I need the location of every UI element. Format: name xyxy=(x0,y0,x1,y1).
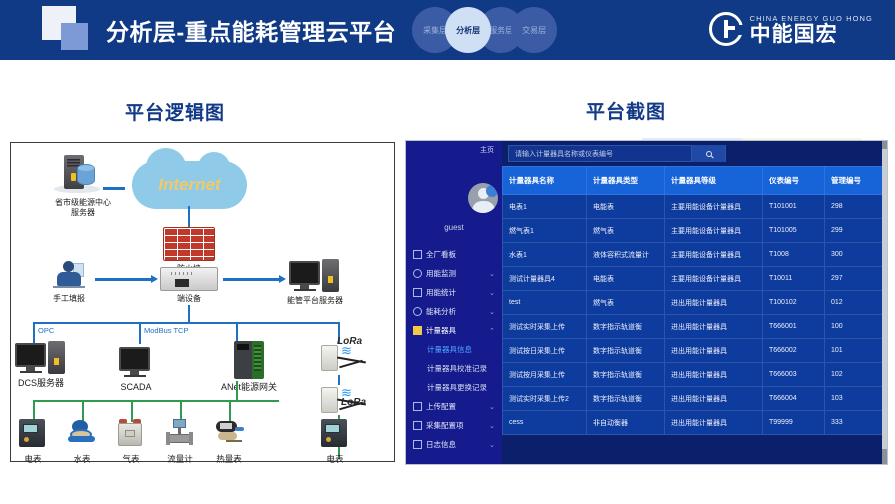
sidebar-item-label: 用能统计 xyxy=(426,287,456,298)
table-cell: T666003 xyxy=(763,363,825,387)
layer-label: 服务层 xyxy=(489,25,513,36)
log-icon xyxy=(413,440,422,449)
sidebar-item-label: 上传配置 xyxy=(426,401,456,412)
table-cell: 燃气表1 xyxy=(503,219,587,243)
bus-drop-scada xyxy=(139,322,141,344)
sidebar-subitem-device-info[interactable]: 计量器具信息 xyxy=(406,340,502,359)
node-edge-device: 端设备 xyxy=(160,267,218,304)
bus-label-opc: OPC xyxy=(38,326,54,335)
table-cell: 燃气表 xyxy=(587,219,665,243)
sidebar-item-statistics[interactable]: 用能统计 ⌄ xyxy=(406,283,502,302)
table-cell: test xyxy=(503,291,587,315)
chevron-down-icon[interactable]: ⌄ xyxy=(489,441,495,449)
node-anet-gateway: ANet能源网关 xyxy=(221,341,277,393)
node-label: 能管平台服务器 xyxy=(287,296,343,306)
water-meter-icon xyxy=(68,419,96,449)
stats-icon xyxy=(413,288,422,297)
col-header-manage-no[interactable]: 管理编号 xyxy=(825,167,889,195)
col-header-meter-no[interactable]: 仪表编号 xyxy=(763,167,825,195)
table-row[interactable]: cess非自动衡器进出用能计量器具T99999333 xyxy=(503,411,889,435)
meter-icon xyxy=(413,326,422,335)
table-row[interactable]: 测试实时采集上传2数字指示轨道衡进出用能计量器具T666004103 xyxy=(503,387,889,411)
sidebar-item-log-info[interactable]: 日志信息 ⌄ xyxy=(406,435,502,454)
sidebar-item-collect-config[interactable]: 采集配置项 ⌄ xyxy=(406,416,502,435)
bus-label-modbus: ModBus TCP xyxy=(144,326,188,335)
table-row[interactable]: 测试实时采集上传数字指示轨道衡进出用能计量器具T666001100 xyxy=(503,315,889,339)
sidebar-subitem-label: 计量器具更换记录 xyxy=(427,382,487,393)
wifi-icon: ≋ xyxy=(341,387,355,399)
table-cell: T10011 xyxy=(763,267,825,291)
bus-green-horizontal xyxy=(33,400,279,402)
search-placeholder: 请输入计量器具名称或仪表编号 xyxy=(509,149,613,159)
table-cell: 012 xyxy=(825,291,889,315)
node-label: 手工填报 xyxy=(53,294,85,304)
scada-icon xyxy=(119,345,153,379)
electric-meter-icon xyxy=(321,419,349,449)
sidebar-item-dashboard[interactable]: 全厂看板 xyxy=(406,245,502,264)
layer-label: 采集层 xyxy=(423,25,447,36)
electric-meter-icon xyxy=(19,419,47,449)
table-cell: T666004 xyxy=(763,387,825,411)
meter-label: 水表 xyxy=(73,453,90,465)
sidebar-item-monitor[interactable]: 用能监测 ⌄ xyxy=(406,264,502,283)
table-cell: 测试按日采集上传 xyxy=(503,339,587,363)
link-server-internet xyxy=(103,187,125,190)
header-logo-squares xyxy=(42,6,104,54)
arrow-icon xyxy=(151,275,158,283)
col-header-name[interactable]: 计量器具名称 xyxy=(503,167,587,195)
sidebar-item-label: 能耗分析 xyxy=(426,306,456,317)
monitor-icon xyxy=(413,269,422,278)
table-cell: 测试实时采集上传2 xyxy=(503,387,587,411)
flow-meter-icon xyxy=(166,419,194,449)
page-header: 分析层-重点能耗管理云平台 采集层 服务层 交易层 分析层 CHINA ENER… xyxy=(0,0,895,60)
table-cell: 主要用能设备计量器具 xyxy=(665,195,763,219)
sidebar-item-analysis[interactable]: 能耗分析 ⌄ xyxy=(406,302,502,321)
square-blue-icon xyxy=(61,23,88,50)
sidebar-item-label: 计量器具 xyxy=(426,325,456,336)
table-cell: 333 xyxy=(825,411,889,435)
gateway-icon xyxy=(234,341,264,379)
layer-label: 分析层 xyxy=(456,25,480,36)
table-cell: 测试按月采集上传 xyxy=(503,363,587,387)
measuring-device-table: 计量器具名称 计量器具类型 计量器具等级 仪表编号 管理编号 电表1电能表主要用… xyxy=(502,166,888,435)
table-cell: 液体容积式流量计 xyxy=(587,243,665,267)
node-label: DCS服务器 xyxy=(18,378,64,389)
search-bar: 请输入计量器具名称或仪表编号 xyxy=(502,141,887,166)
node-scada: SCADA xyxy=(119,345,153,393)
sidebar-subitem-replacement-records[interactable]: 计量器具更换记录 xyxy=(406,378,502,397)
table-cell: 非自动衡器 xyxy=(587,411,665,435)
table-cell: 数字指示轨道衡 xyxy=(587,387,665,411)
platform-logic-diagram: 省市级能源中心服务器 Internet 防火墙 手工填报 xyxy=(10,142,395,462)
scrollbar-thumb[interactable] xyxy=(882,149,887,449)
slide-page: 分析层-重点能耗管理云平台 采集层 服务层 交易层 分析层 CHINA ENER… xyxy=(0,0,895,504)
link-edge-platform xyxy=(223,278,281,281)
search-button[interactable] xyxy=(691,145,725,162)
link-edge-bus xyxy=(188,305,190,323)
home-link-label: 主页 xyxy=(480,145,494,155)
gas-meter-icon xyxy=(117,419,145,449)
sidebar-item-label: 采集配置项 xyxy=(426,420,464,431)
firewall-icon xyxy=(163,227,215,261)
section-title-platform-screenshot: 平台截图 xyxy=(586,97,666,124)
table-cell: T101005 xyxy=(763,219,825,243)
table-cell: 主要用能设备计量器具 xyxy=(665,219,763,243)
table-cell: 进出用能计量器具 xyxy=(665,411,763,435)
table-cell: 水表1 xyxy=(503,243,587,267)
user-name: guest xyxy=(406,223,502,232)
sidebar-item-label: 全厂看板 xyxy=(426,249,456,260)
page-title: 分析层-重点能耗管理云平台 xyxy=(106,13,396,47)
layer-label: 交易层 xyxy=(522,25,546,36)
table-row[interactable]: test燃气表进出用能计量器具T100102012 xyxy=(503,291,889,315)
heat-meter-icon xyxy=(215,419,243,449)
section-title-logic-diagram: 平台逻辑图 xyxy=(125,98,225,125)
sidebar-subitem-label: 计量器具校准记录 xyxy=(427,363,487,374)
table-cell: 主要用能设备计量器具 xyxy=(665,243,763,267)
table-cell: 102 xyxy=(825,363,889,387)
edge-device-icon xyxy=(160,267,218,291)
meter-label: 气表 xyxy=(122,453,139,465)
analysis-icon xyxy=(413,307,422,316)
table-cell: T100102 xyxy=(763,291,825,315)
meter-node-1: 水表 xyxy=(68,419,96,465)
upload-icon xyxy=(413,402,422,411)
table-row[interactable]: 水表1液体容积式流量计主要用能设备计量器具T1008300 xyxy=(503,243,889,267)
table-cell: 进出用能计量器具 xyxy=(665,363,763,387)
link-manual-edge xyxy=(95,278,153,281)
table-cell: 主要用能设备计量器具 xyxy=(665,267,763,291)
table-row[interactable]: 电表1电能表主要用能设备计量器具T101001298 xyxy=(503,195,889,219)
table-cell: 300 xyxy=(825,243,889,267)
table-cell: 测试实时采集上传 xyxy=(503,315,587,339)
meter-node-3: 流量计 xyxy=(166,419,194,465)
node-label: 省市级能源中心服务器 xyxy=(55,198,111,218)
chevron-up-icon[interactable]: ⌃ xyxy=(489,327,495,335)
table-cell: 101 xyxy=(825,339,889,363)
node-label: SCADA xyxy=(120,382,151,393)
layer-circle-analysis[interactable]: 分析层 xyxy=(445,7,491,53)
home-link[interactable]: 主页 xyxy=(406,141,502,159)
table-cell: 燃气表 xyxy=(587,291,665,315)
collect-icon xyxy=(413,421,422,430)
table-cell: T101001 xyxy=(763,195,825,219)
sidebar-menu: 全厂看板 用能监测 ⌄ 用能统计 ⌄ 能耗分析 ⌄ xyxy=(406,245,502,454)
search-icon xyxy=(706,151,712,157)
node-dcs-server: DCS服务器 xyxy=(15,341,67,389)
search-input[interactable]: 请输入计量器具名称或仪表编号 xyxy=(508,145,726,162)
meter-label: 电表 xyxy=(326,453,343,465)
sidebar-item-label: 日志信息 xyxy=(426,439,456,450)
table-cell: T666002 xyxy=(763,339,825,363)
platform-server-icon xyxy=(289,259,341,293)
table-cell: 进出用能计量器具 xyxy=(665,315,763,339)
meter-label: 流量计 xyxy=(167,453,193,465)
manual-entry-icon xyxy=(56,261,82,291)
table-cell: 进出用能计量器具 xyxy=(665,339,763,363)
app-sidebar: 主页 guest 全厂看板 用能监测 ⌄ 用能统计 ⌄ xyxy=(406,141,502,464)
chevron-down-icon[interactable]: ⌄ xyxy=(489,403,495,411)
node-lora-2: LoRa ≋ xyxy=(321,383,367,417)
table-cell: T666001 xyxy=(763,315,825,339)
database-icon xyxy=(77,164,95,185)
chevron-down-icon[interactable]: ⌄ xyxy=(489,422,495,430)
table-cell: 数字指示轨道衡 xyxy=(587,339,665,363)
sidebar-item-label: 用能监测 xyxy=(426,268,456,279)
node-internet-cloud: Internet xyxy=(132,161,247,209)
table-cell: 数字指示轨道衡 xyxy=(587,315,665,339)
company-logo-cn: 中能国宏 xyxy=(750,24,873,45)
chevron-down-icon[interactable]: ⌄ xyxy=(489,308,495,316)
table-cell: 299 xyxy=(825,219,889,243)
wifi-icon: ≋ xyxy=(341,345,355,357)
dcs-server-icon xyxy=(15,341,67,375)
table-cell: 测试计量器具4 xyxy=(503,267,587,291)
dashboard-icon xyxy=(413,250,422,259)
table-row[interactable]: 测试按月采集上传数字指示轨道衡进出用能计量器具T666003102 xyxy=(503,363,889,387)
table-cell: 数字指示轨道衡 xyxy=(587,363,665,387)
table-cell: 297 xyxy=(825,267,889,291)
meter-node-0: 电表 xyxy=(19,419,47,465)
node-label: ANet能源网关 xyxy=(221,382,277,393)
node-label: 端设备 xyxy=(177,294,201,304)
table-row[interactable]: 燃气表1燃气表主要用能设备计量器具T101005299 xyxy=(503,219,889,243)
app-main-content: 请输入计量器具名称或仪表编号 计量器具名称 计量器具类型 计量器具等级 仪表编号… xyxy=(502,141,887,464)
node-energy-center-server: 省市级能源中心服务器 xyxy=(55,153,111,218)
table-row[interactable]: 测试按日采集上传数字指示轨道衡进出用能计量器具T666002101 xyxy=(503,339,889,363)
arrow-icon xyxy=(279,275,286,283)
sidebar-subitem-label: 计量器具信息 xyxy=(427,344,472,355)
chevron-down-icon[interactable]: ⌄ xyxy=(489,289,495,297)
table-cell: cess xyxy=(503,411,587,435)
layer-circle-trade[interactable]: 交易层 xyxy=(511,7,557,53)
col-header-grade[interactable]: 计量器具等级 xyxy=(665,167,763,195)
platform-screenshot: 主页 guest 全厂看板 用能监测 ⌄ 用能统计 ⌄ xyxy=(405,140,888,465)
sidebar-item-upload-config[interactable]: 上传配置 ⌄ xyxy=(406,397,502,416)
table-cell: 电能表 xyxy=(587,267,665,291)
company-logo-en: CHINA ENERGY GUO HONG xyxy=(750,14,873,23)
table-cell: 进出用能计量器具 xyxy=(665,387,763,411)
table-cell: T1008 xyxy=(763,243,825,267)
table-cell: 电能表 xyxy=(587,195,665,219)
meter-label: 热量表 xyxy=(216,453,242,465)
table-cell: 进出用能计量器具 xyxy=(665,291,763,315)
company-logo-icon xyxy=(709,12,743,46)
vertical-scrollbar[interactable] xyxy=(882,141,887,464)
node-lora-1: LoRa ≋ xyxy=(321,341,367,375)
table-cell: 298 xyxy=(825,195,889,219)
link-internet-firewall xyxy=(188,206,190,227)
meter-node-2: 气表 xyxy=(117,419,145,465)
node-manual-entry: 手工填报 xyxy=(53,261,85,304)
node-platform-server: 能管平台服务器 xyxy=(287,259,343,306)
bus-blue-horizontal xyxy=(33,322,340,324)
sidebar-item-measuring-devices[interactable]: 计量器具 ⌃ xyxy=(406,321,502,340)
table-cell: 电表1 xyxy=(503,195,587,219)
meter-node-5: 电表 xyxy=(321,419,349,465)
col-header-type[interactable]: 计量器具类型 xyxy=(587,167,665,195)
layer-circle-group: 采集层 服务层 交易层 分析层 xyxy=(412,7,558,53)
table-cell: 103 xyxy=(825,387,889,411)
table-body: 电表1电能表主要用能设备计量器具T101001298燃气表1燃气表主要用能设备计… xyxy=(503,195,889,435)
sidebar-subitem-calibration-records[interactable]: 计量器具校准记录 xyxy=(406,359,502,378)
company-logo: CHINA ENERGY GUO HONG 中能国宏 xyxy=(709,12,873,46)
chevron-down-icon[interactable]: ⌄ xyxy=(489,270,495,278)
table-cell: T99999 xyxy=(763,411,825,435)
table-row[interactable]: 测试计量器具4电能表主要用能设备计量器具T10011297 xyxy=(503,267,889,291)
meter-node-4: 热量表 xyxy=(215,419,243,465)
table-header-row: 计量器具名称 计量器具类型 计量器具等级 仪表编号 管理编号 xyxy=(503,167,889,195)
link-gateway-green-bus xyxy=(236,381,238,401)
meter-label: 电表 xyxy=(24,453,41,465)
link-lora1-lora2 xyxy=(338,375,340,385)
avatar[interactable] xyxy=(468,183,498,213)
node-label: Internet xyxy=(158,175,220,195)
table-cell: 100 xyxy=(825,315,889,339)
